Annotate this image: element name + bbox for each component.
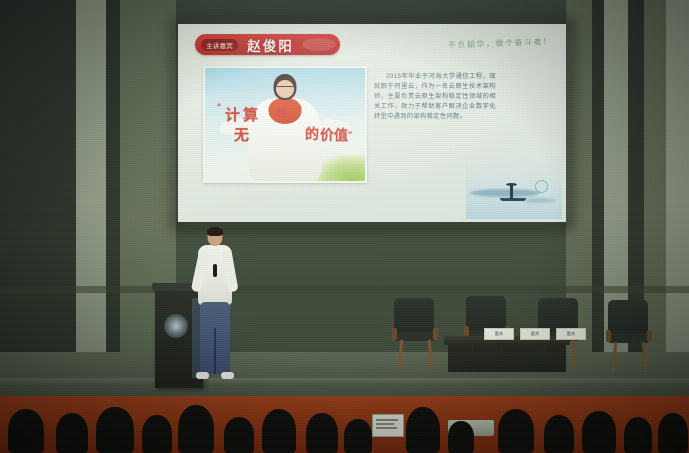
calligraphy-char-3: 无 xyxy=(234,124,249,145)
audience-head xyxy=(406,407,440,453)
audience-head xyxy=(658,413,688,453)
wall-panel-dark-4 xyxy=(592,0,604,400)
calligraphy-char-2: 算 xyxy=(243,104,258,125)
speaker-shoe-left xyxy=(196,372,209,379)
slide-slogan-text: 不负韶华，做个奋斗者！ xyxy=(447,36,552,51)
chair-armrest-left xyxy=(606,330,611,342)
ink-moon xyxy=(535,180,548,193)
panel-table-skirt xyxy=(448,344,566,372)
wall-pilaster-right-2 xyxy=(666,0,689,400)
audience-head xyxy=(306,413,338,453)
keynote-guest-tag: 主讲嘉宾 xyxy=(201,39,238,51)
speaker-shoe-right xyxy=(221,372,234,379)
chair-backrest xyxy=(466,296,506,331)
calligraphy-char-1: 计 xyxy=(225,104,240,125)
calligraphy-char-6: 值 xyxy=(334,125,348,145)
slide-title-banner: 主讲嘉宾 赵俊阳 xyxy=(195,34,340,55)
calligraphy-quote-open: “ xyxy=(217,102,221,111)
chair-leg-right xyxy=(428,340,434,370)
wall-panel-dark-1 xyxy=(0,0,30,400)
banner-swoosh-decoration xyxy=(302,38,336,51)
audience-heads-row xyxy=(0,400,689,453)
stage-back-rail xyxy=(0,286,689,293)
chair-armrest-left xyxy=(392,328,397,340)
ink-water-stroke-2 xyxy=(522,198,556,203)
ink-fisherman xyxy=(510,184,513,199)
ink-boat xyxy=(500,198,526,201)
conference-photo-scene: 主讲嘉宾 赵俊阳 不负韶华，做个奋斗者！ “ 计 算 无 的 价 值 ” xyxy=(0,0,689,453)
speaker-bio-text: 2015年毕业于河海大学通信工程，现就职于阿里云，作为一名云原生技术架构师，主要… xyxy=(374,72,496,122)
audience-head xyxy=(178,405,214,453)
ink-fisherman-hat xyxy=(506,183,517,186)
speaker-hair xyxy=(207,227,223,236)
calligraphy-char-4: 的 xyxy=(305,124,319,144)
ink-water-stroke-1 xyxy=(470,189,540,197)
name-card-2: 嘉宾 xyxy=(520,328,550,340)
wall-pilaster-left-1 xyxy=(76,0,106,400)
calligraphy-seal-stamp xyxy=(277,108,286,117)
speaker-name-text: 赵俊阳 xyxy=(247,35,294,55)
name-card-3: 嘉宾 xyxy=(556,328,586,340)
chair-leg-left xyxy=(612,342,618,372)
projection-screen: 主讲嘉宾 赵俊阳 不负韶华，做个奋斗者！ “ 计 算 无 的 价 值 ” xyxy=(178,24,566,222)
chair-leg-right xyxy=(572,340,578,370)
audience-head xyxy=(8,409,44,453)
speaker-leg-separation xyxy=(214,328,216,374)
wall-panel-dark-2 xyxy=(30,0,76,400)
audience-head xyxy=(448,421,474,453)
stage-speaker-figure xyxy=(192,228,238,388)
speaker-photo-card: “ 计 算 无 的 价 值 ” xyxy=(203,66,367,183)
calligraphy-quote-close: ” xyxy=(348,130,352,139)
panel-chair-4 xyxy=(608,300,652,372)
chair-armrest-right xyxy=(433,328,438,340)
name-card-1: 嘉宾 xyxy=(484,328,514,340)
stage-edge-lip xyxy=(0,378,689,386)
audience-head xyxy=(224,417,254,453)
microphone-icon xyxy=(213,264,217,277)
audience-head xyxy=(142,415,172,453)
ink-wash-artwork xyxy=(466,157,562,219)
photo-figure-glasses xyxy=(277,86,294,90)
chair-backrest xyxy=(394,298,434,333)
podium-emblem-icon xyxy=(164,314,188,338)
audience-head xyxy=(624,417,652,453)
chair-leg-left xyxy=(398,340,404,370)
audience-head xyxy=(262,409,296,453)
audience-head xyxy=(582,411,616,453)
audience-head xyxy=(56,413,88,453)
audience-head xyxy=(344,419,372,453)
audience-head xyxy=(544,415,574,453)
wall-panel-dark-3 xyxy=(106,0,120,400)
chair-armrest-right xyxy=(647,330,652,342)
chair-leg-right xyxy=(642,342,648,372)
audience-head xyxy=(498,409,534,453)
audience-head xyxy=(96,407,134,453)
chair-backrest xyxy=(608,300,648,335)
calligraphy-char-5: 价 xyxy=(320,125,334,145)
panel-chair-1 xyxy=(394,298,438,370)
